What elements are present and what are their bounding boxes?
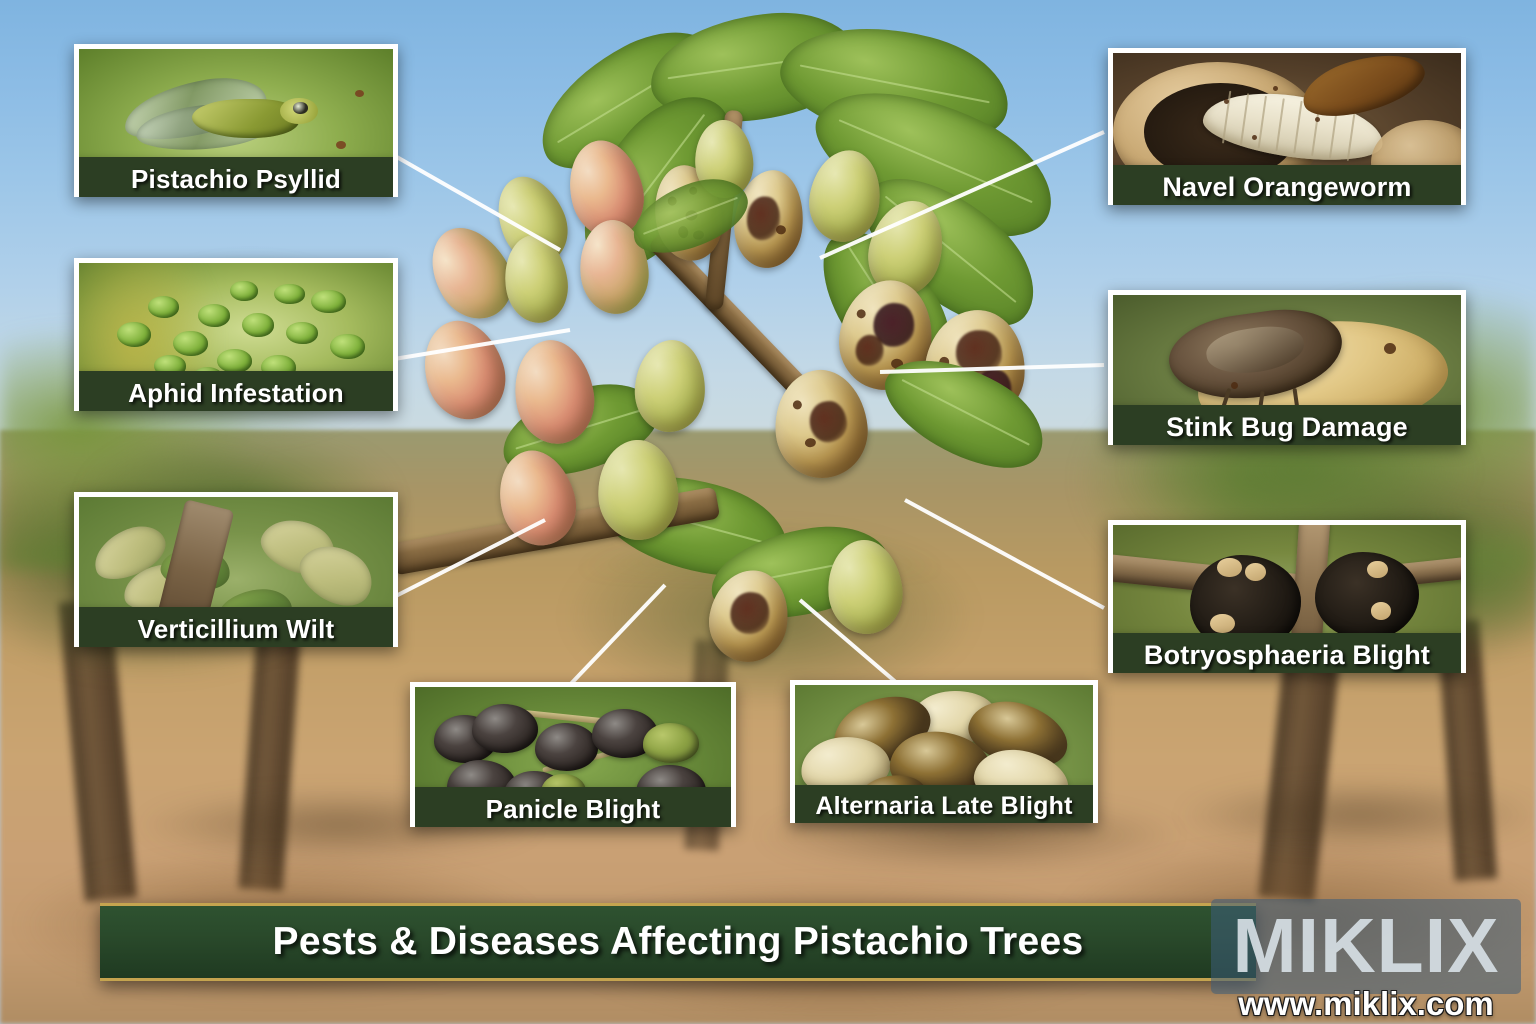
ground-shadow — [1180, 780, 1536, 850]
card-aphid-infestation[interactable]: Aphid Infestation — [74, 258, 398, 411]
aphid — [286, 322, 317, 344]
bud — [1371, 602, 1392, 620]
card-alternaria-late-blight[interactable]: Alternaria Late Blight — [790, 680, 1098, 823]
card-verticillium-wilt[interactable]: Verticillium Wilt — [74, 492, 398, 647]
card-botryosphaeria-blight[interactable]: Botryosphaeria Blight — [1108, 520, 1466, 673]
card-label-panicle-blight: Panicle Blight — [415, 787, 731, 827]
card-label-navel-orangeworm: Navel Orangeworm — [1113, 165, 1461, 205]
card-photo: Botryosphaeria Blight — [1113, 525, 1461, 673]
psyllid-nymph — [336, 141, 346, 149]
pistachio-nut — [633, 339, 706, 433]
panicle-shoot — [643, 723, 700, 762]
card-label-verticillium-wilt: Verticillium Wilt — [79, 607, 393, 647]
aphid — [217, 349, 252, 373]
infographic-canvas: Pistachio Psyllid Aphid Infestatio — [0, 0, 1536, 1024]
aphid — [148, 296, 179, 318]
center-pistachio-cluster — [380, 10, 1080, 670]
watermark-brand-box: MIKLIX — [1211, 899, 1521, 994]
bug-scutellum — [1204, 322, 1307, 379]
card-label-botryosphaeria-blight: Botryosphaeria Blight — [1113, 633, 1461, 673]
bud — [1217, 558, 1241, 577]
aphid — [198, 304, 229, 326]
aphid — [230, 281, 258, 302]
card-photo: Panicle Blight — [415, 687, 731, 827]
card-label-aphid-infestation: Aphid Infestation — [79, 371, 393, 411]
bud — [1367, 561, 1388, 579]
psyllid-nymph — [355, 90, 364, 97]
psyllid-eye — [293, 102, 309, 114]
card-navel-orangeworm[interactable]: Navel Orangeworm — [1108, 48, 1466, 205]
aphid — [330, 334, 365, 359]
page-title: Pests & Diseases Affecting Pistachio Tre… — [273, 920, 1084, 964]
card-stink-bug-damage[interactable]: Stink Bug Damage — [1108, 290, 1466, 445]
aphid — [173, 331, 208, 356]
card-photo: Stink Bug Damage — [1113, 295, 1461, 445]
blighted-nut — [535, 723, 598, 771]
aphid — [117, 322, 152, 347]
card-photo: Pistachio Psyllid — [79, 49, 393, 197]
card-pistachio-psyllid[interactable]: Pistachio Psyllid — [74, 44, 398, 197]
title-banner: Pests & Diseases Affecting Pistachio Tre… — [100, 903, 1256, 981]
card-photo: Aphid Infestation — [79, 263, 393, 411]
card-photo: Alternaria Late Blight — [795, 685, 1093, 823]
card-photo: Verticillium Wilt — [79, 497, 393, 647]
pistachio-nut — [411, 310, 516, 429]
aphid — [242, 313, 273, 337]
card-photo: Navel Orangeworm — [1113, 53, 1461, 205]
aphid — [274, 284, 305, 305]
blighted-nut — [472, 704, 538, 753]
card-panicle-blight[interactable]: Panicle Blight — [410, 682, 736, 827]
watermark-url: www.miklix.com — [1211, 985, 1521, 1023]
aphid — [311, 290, 346, 314]
watermark-brand: MIKLIX — [1233, 908, 1500, 985]
bud — [1210, 614, 1234, 633]
card-label-stink-bug-damage: Stink Bug Damage — [1113, 405, 1461, 445]
card-label-alternaria-late-blight: Alternaria Late Blight — [795, 785, 1093, 823]
card-label-pistachio-psyllid: Pistachio Psyllid — [79, 157, 393, 197]
